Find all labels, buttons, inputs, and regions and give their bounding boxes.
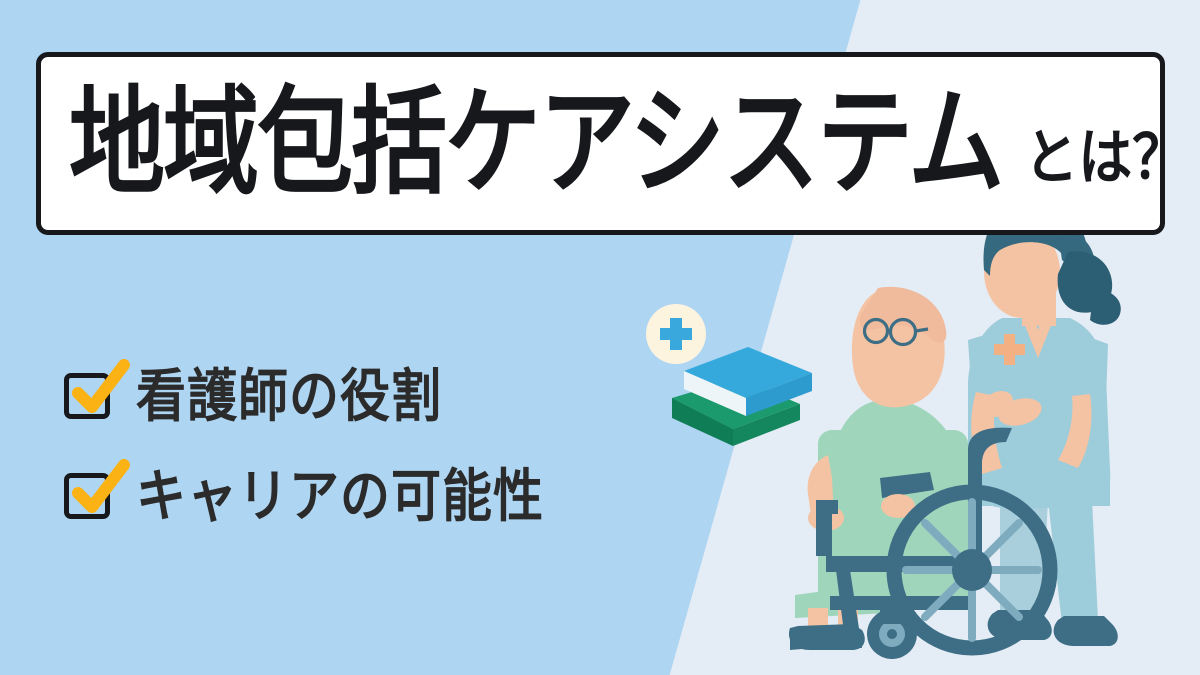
checklist-item-label: キャリアの可能性 [136, 468, 544, 525]
page-title-suffix: とは？ [1024, 127, 1186, 187]
checklist: 看護師の役割 キャリアの可能性 [64, 360, 544, 560]
list-item[interactable]: 看護師の役割 [64, 360, 544, 432]
checklist-item-label: 看護師の役割 [136, 368, 442, 425]
poster-canvas: 地域包括ケアシステム とは？ 看護師の役割 キャリアの可能性 [0, 0, 1200, 675]
checkbox-checked-icon[interactable] [64, 373, 110, 419]
title-plaque: 地域包括ケアシステム とは？ [36, 52, 1165, 235]
list-item[interactable]: キャリアの可能性 [64, 460, 544, 532]
title-line: 地域包括ケアシステム とは？ [69, 96, 1186, 192]
check-mark-icon [68, 461, 130, 519]
checkbox-checked-icon[interactable] [64, 473, 110, 519]
page-title: 地域包括ケアシステム [69, 85, 1002, 202]
check-mark-icon [68, 361, 130, 419]
